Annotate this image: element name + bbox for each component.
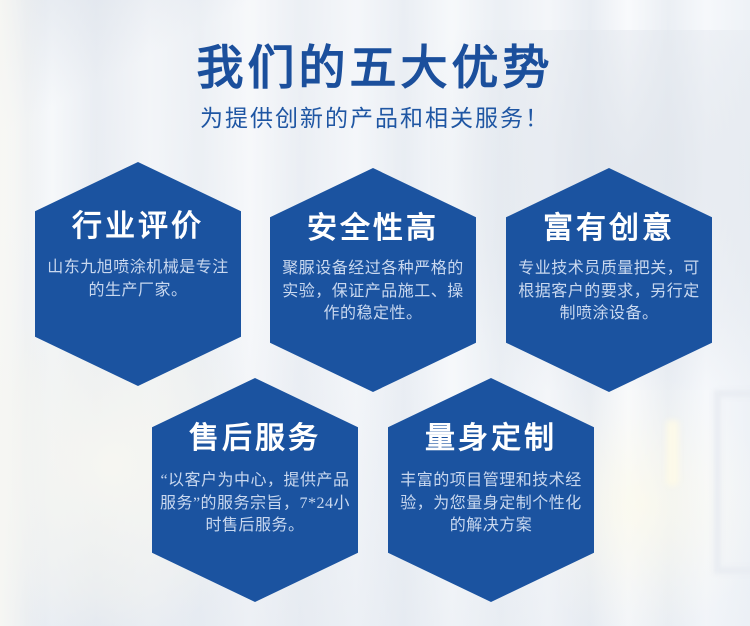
advantage-card-high-safety[interactable]: 安全性高 聚脲设备经过各种严格的实验，保证产品施工、操作的稳定性。 [270, 168, 476, 392]
advantage-card-title: 售后服务 [189, 424, 321, 454]
advantage-card-title: 富有创意 [543, 214, 675, 244]
advantage-card-creative[interactable]: 富有创意 专业技术员质量把关，可根据客户的要求，另行定制喷涂设备。 [506, 168, 712, 392]
advantage-card-title: 量身定制 [425, 424, 557, 454]
advantages-banner: 我们的五大优势 为提供创新的产品和相关服务！ 行业评价 山东九旭喷涂机械是专注的… [0, 0, 750, 626]
advantage-card-after-sales-service[interactable]: 售后服务 “以客户为中心，提供产品服务”的服务宗旨，7*24小时售后服务。 [152, 378, 358, 602]
page-subtitle: 为提供创新的产品和相关服务！ [0, 95, 750, 131]
advantage-card-body: 聚脲设备经过各种严格的实验，保证产品施工、操作的稳定性。 [275, 258, 471, 326]
advantage-card-title: 行业评价 [72, 212, 204, 242]
advantage-card-title: 安全性高 [307, 214, 439, 244]
advantage-card-body: 山东九旭喷涂机械是专注的生产厂家。 [43, 257, 233, 302]
advantage-card-industry-reputation[interactable]: 行业评价 山东九旭喷涂机械是专注的生产厂家。 [35, 162, 241, 386]
banner-heading: 我们的五大优势 为提供创新的产品和相关服务！ [0, 0, 750, 131]
advantage-card-tailored-customization[interactable]: 量身定制 丰富的项目管理和技术经验，为您量身定制个性化的解决方案 [388, 378, 594, 602]
advantage-card-body: “以客户为中心，提供产品服务”的服务宗旨，7*24小时售后服务。 [155, 470, 355, 538]
page-title: 我们的五大优势 [0, 0, 750, 95]
advantage-card-body: 丰富的项目管理和技术经验，为您量身定制个性化的解决方案 [393, 470, 589, 538]
advantage-card-body: 专业技术员质量把关，可根据客户的要求，另行定制喷涂设备。 [511, 258, 707, 326]
